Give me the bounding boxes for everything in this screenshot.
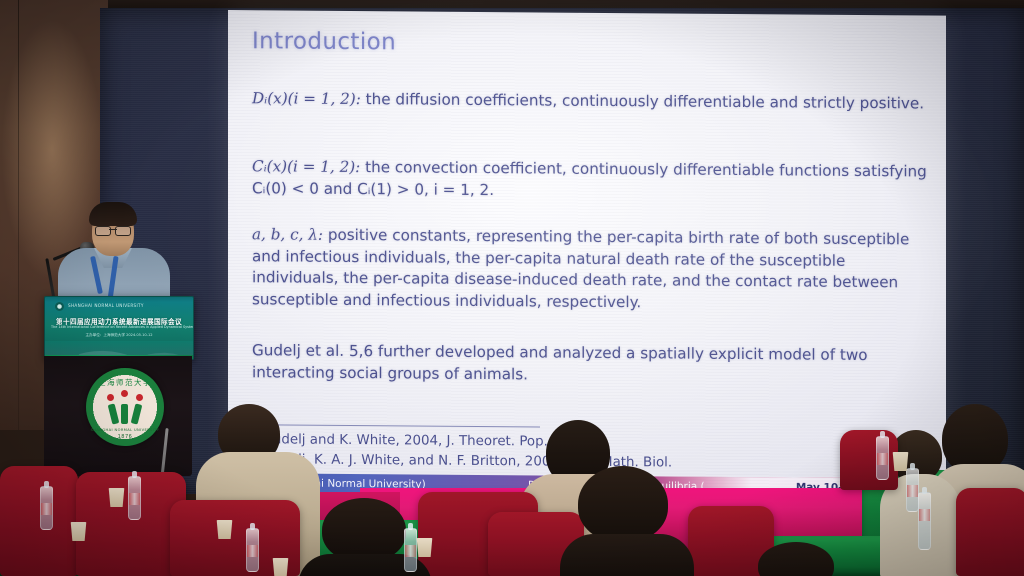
podium-front-panel: 上海师范大学 SHANGHAI NORMAL UNIVERSITY 1876 [44,356,192,476]
university-logo-icon [55,302,64,311]
paper-cup [70,522,87,541]
water-bottle [246,528,259,572]
paper-cup [892,452,909,471]
math-lead-diffusion: Dᵢ(x)(i = 1, 2): [252,89,361,108]
emblem-text-en: SHANGHAI NORMAL UNIVERSITY [86,428,164,432]
water-bottle [40,486,53,530]
paper-cup [108,488,125,507]
audience-torso [560,534,694,576]
math-lead-convection: Cᵢ(x)(i = 1, 2): [252,157,360,176]
audience-chair [0,466,78,576]
audience-head [578,466,668,542]
water-bottle [128,476,141,520]
slide-paragraph-diffusion: Dᵢ(x)(i = 1, 2): the diffusion coefficie… [252,88,928,115]
audience-head [322,498,406,562]
emblem-text-cn: 上海师范大学 [86,377,164,388]
paragraph-text-diffusion: the diffusion coefficients, continuously… [366,90,924,112]
podium-and-speaker: SHANGHAI NORMAL UNIVERSITY 第十四届应用动力系统最新进… [36,196,196,496]
emblem-figure-glyph [105,394,145,424]
paragraph-text-gudelj: Gudelj et al. 5,6 further developed and … [252,341,868,383]
audience-member-front [742,542,852,576]
paragraph-text-constants: positive constants, representing the per… [252,226,909,311]
slide-title: Introduction [252,28,396,55]
paper-cup [272,558,289,576]
slide-paragraph-convection: Cᵢ(x)(i = 1, 2): the convection coeffici… [252,156,928,204]
slide-paragraph-constants: a, b, c, λ: positive constants, represen… [252,224,928,316]
math-lead-constants: a, b, c, λ: [252,225,323,244]
speaker-hair [89,202,137,226]
conference-photo-scene: Introduction Dᵢ(x)(i = 1, 2): the diffus… [0,0,1024,576]
university-emblem-icon: 上海师范大学 SHANGHAI NORMAL UNIVERSITY 1876 [86,368,164,446]
water-bottle [404,528,417,572]
paper-cup [216,520,233,539]
banner-title-en: The 14th International Conference on Rec… [51,325,187,329]
banner-meta: 主办单位：上海师范大学 2024.05.10-12 [51,333,187,338]
audience-chair [956,488,1024,576]
water-bottle [876,436,889,480]
audience-member-front [560,466,690,576]
wall-seam [18,0,19,430]
audience-head [758,542,834,576]
paper-cup [416,538,433,557]
banner-org-name: SHANGHAI NORMAL UNIVERSITY [68,303,144,308]
audience-chair [840,430,898,490]
eyeglasses-icon [95,226,131,234]
emblem-year: 1876 [86,434,164,440]
slide-paragraph-gudelj: Gudelj et al. 5,6 further developed and … [252,340,928,388]
podium-banner: SHANGHAI NORMAL UNIVERSITY 第十四届应用动力系统最新进… [44,296,194,360]
water-bottle [918,492,931,550]
